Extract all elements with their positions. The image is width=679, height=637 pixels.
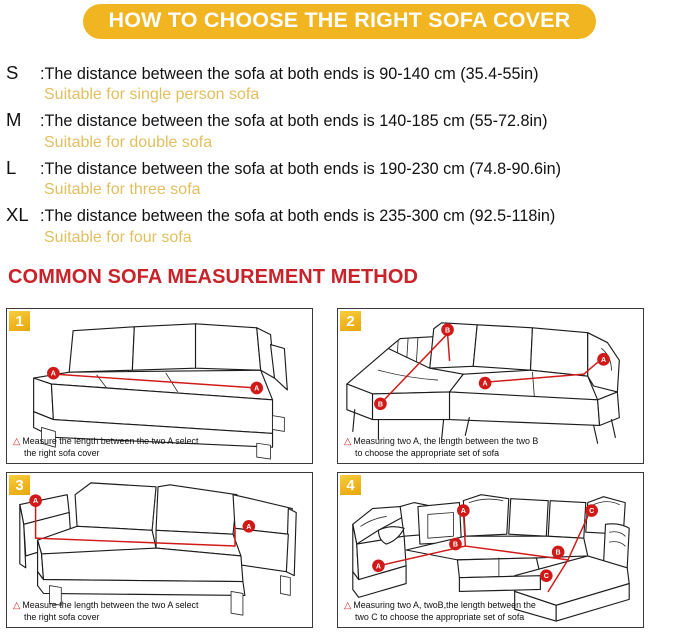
size-row: M :The distance between the sofa at both… — [6, 109, 674, 152]
caption-line-2: the right sofa cover — [24, 612, 308, 624]
panel-caption: △Measure the length between the two A se… — [13, 600, 308, 624]
size-suitable-text: Suitable for four sofa — [44, 228, 674, 248]
panel-number-badge: 4 — [340, 475, 361, 495]
warning-triangle-icon: △ — [344, 600, 351, 611]
size-suitable-text: Suitable for three sofa — [44, 180, 674, 200]
marker-label-A: A — [246, 523, 251, 531]
size-suitable-text: Suitable for single person sofa — [44, 85, 674, 105]
caption-line-1: Measure the length between the two A sel… — [22, 436, 198, 446]
caption-line-2: to choose the appropriate set of sofa — [355, 448, 639, 460]
sofa-size-guide-infographic: HOW TO CHOOSE THE RIGHT SOFA COVER S :Th… — [0, 0, 679, 637]
panel-caption: △Measuring two A, twoB,the length betwee… — [344, 600, 639, 624]
header: HOW TO CHOOSE THE RIGHT SOFA COVER — [0, 4, 679, 39]
marker-label-B: B — [556, 549, 561, 557]
measurement-panel-2: 2 — [337, 308, 644, 464]
size-letter: XL — [6, 204, 40, 226]
size-letter: S — [6, 62, 40, 84]
measurement-panel-grid: 1 — [6, 308, 674, 628]
marker-label-A: A — [601, 356, 606, 364]
caption-line-1: Measure the length between the two A sel… — [22, 600, 198, 610]
marker-label-A: A — [461, 507, 466, 515]
warning-triangle-icon: △ — [13, 436, 20, 447]
measurement-panel-4: 4 — [337, 472, 644, 628]
size-description: :The distance between the sofa at both e… — [40, 207, 555, 226]
caption-line-1: Measuring two A, the length between the … — [353, 436, 538, 446]
size-row: XL :The distance between the sofa at bot… — [6, 204, 674, 247]
panel-number-badge: 2 — [340, 311, 361, 331]
measurement-panel-1: 1 — [6, 308, 313, 464]
measurement-panel-3: 3 — [6, 472, 313, 628]
size-guide: S :The distance between the sofa at both… — [6, 62, 674, 252]
warning-triangle-icon: △ — [344, 436, 351, 447]
size-description: :The distance between the sofa at both e… — [40, 65, 539, 84]
marker-label-A: A — [376, 562, 381, 570]
marker-label-B: B — [453, 541, 458, 549]
size-letter: M — [6, 109, 40, 131]
panel-caption: △Measure the length between the two A se… — [13, 436, 308, 460]
marker-label-C: C — [589, 507, 594, 515]
marker-label-B: B — [445, 326, 450, 334]
panel-number-badge: 3 — [9, 475, 30, 495]
caption-line-2: two C to choose the appropriate set of s… — [355, 612, 639, 624]
panel-number-badge: 1 — [9, 311, 30, 331]
marker-label-B: B — [378, 400, 383, 408]
marker-label-C: C — [544, 572, 549, 580]
marker-label-A: A — [254, 385, 259, 393]
size-description: :The distance between the sofa at both e… — [40, 112, 548, 131]
size-letter: L — [6, 157, 40, 179]
size-row: L :The distance between the sofa at both… — [6, 157, 674, 200]
warning-triangle-icon: △ — [13, 600, 20, 611]
section-heading: COMMON SOFA MEASUREMENT METHOD — [8, 266, 418, 289]
marker-label-A: A — [483, 380, 488, 388]
size-suitable-text: Suitable for double sofa — [44, 133, 674, 153]
size-row: S :The distance between the sofa at both… — [6, 62, 674, 105]
marker-label-A: A — [51, 370, 56, 378]
panel-caption: △Measuring two A, the length between the… — [344, 436, 639, 460]
size-description: :The distance between the sofa at both e… — [40, 160, 561, 179]
page-title: HOW TO CHOOSE THE RIGHT SOFA COVER — [83, 4, 597, 39]
caption-line-2: the right sofa cover — [24, 448, 308, 460]
marker-label-A: A — [33, 497, 38, 505]
caption-line-1: Measuring two A, twoB,the length between… — [353, 600, 536, 610]
